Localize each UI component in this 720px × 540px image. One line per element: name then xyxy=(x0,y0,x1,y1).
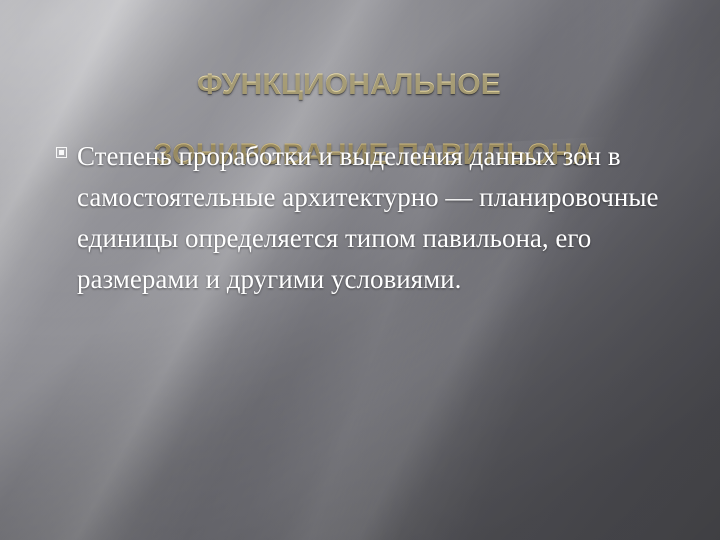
slide-title-line-1: ФУНКЦИОНАЛЬНОЕ xyxy=(28,67,710,102)
slide-bullet-text: Степень проработки и выделения данных зо… xyxy=(77,136,686,300)
slide-content: ФУНКЦИОНАЛЬНОЕ ЗОНИРОВАНИЕ ПАВИЛЬОНА Сте… xyxy=(0,0,720,540)
square-bullet-icon xyxy=(56,147,67,158)
slide-bullet-item: Степень проработки и выделения данных зо… xyxy=(56,136,686,300)
presentation-slide: ФУНКЦИОНАЛЬНОЕ ЗОНИРОВАНИЕ ПАВИЛЬОНА Сте… xyxy=(0,0,720,540)
